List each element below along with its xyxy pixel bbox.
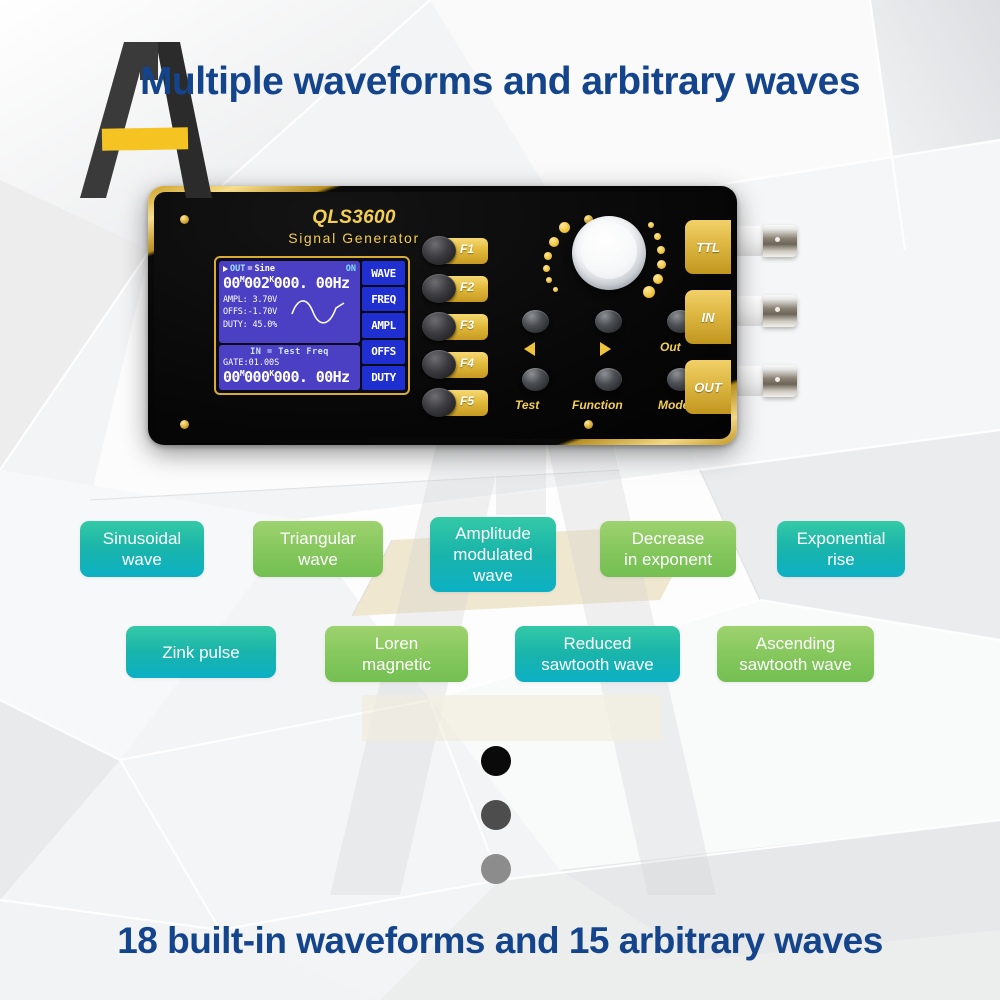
rotary-encoder-knob[interactable] bbox=[572, 216, 646, 290]
page-title-bottom: 18 built-in waveforms and 15 arbitrary w… bbox=[0, 920, 1000, 962]
lcd-out-status: ON bbox=[346, 264, 356, 274]
f1-label: F1 bbox=[460, 242, 474, 256]
lcd-input-panel: IN = Test Freq GATE:01.00S 00M000K000. 0… bbox=[219, 345, 360, 390]
softkey-ampl[interactable]: AMPL bbox=[362, 313, 405, 337]
cursor-arrow-icon bbox=[223, 266, 228, 272]
led-indicator-r2 bbox=[654, 233, 661, 240]
led-indicator-l4 bbox=[543, 265, 550, 272]
led-indicator-r6 bbox=[643, 286, 655, 298]
led-indicator-l5 bbox=[546, 277, 552, 283]
led-indicator-l6 bbox=[553, 287, 558, 292]
waveform-tag[interactable]: Decrease in exponent bbox=[600, 521, 736, 577]
lcd-out-freq-kilo: 002 bbox=[244, 274, 269, 292]
function-key-f5[interactable]: F5 bbox=[422, 388, 488, 418]
bnc-in-insulator bbox=[735, 296, 763, 326]
led-indicator-r4 bbox=[657, 260, 666, 269]
bnc-ttl-insulator bbox=[735, 226, 763, 256]
function-key-f3[interactable]: F3 bbox=[422, 312, 488, 342]
carousel-dots bbox=[481, 746, 511, 908]
lcd-out-freq-rest: 000. 00Hz bbox=[274, 274, 350, 292]
function-key-f4[interactable]: F4 bbox=[422, 350, 488, 380]
led-indicator-r1 bbox=[648, 222, 654, 228]
bnc-connector-ttl bbox=[735, 224, 797, 258]
lcd-screen: OUT = Sine ON 00M002K000. 00Hz AMPL: 3.7… bbox=[214, 256, 410, 395]
lcd-ampl: AMPL: 3.70V bbox=[223, 294, 277, 307]
rotary-encoder-area bbox=[532, 214, 672, 314]
lcd-softkey-column: WAVE FREQ AMPL OFFS DUTY bbox=[362, 261, 405, 390]
sine-wave-icon bbox=[290, 294, 346, 330]
waveform-tag[interactable]: Zink pulse bbox=[126, 626, 276, 678]
lcd-output-frequency: 00M002K000. 00Hz bbox=[223, 275, 356, 292]
lcd-out-freq-mega: 00 bbox=[223, 274, 240, 292]
lcd-out-waveform: Sine bbox=[254, 264, 274, 274]
led-indicator-l2 bbox=[549, 237, 559, 247]
f3-label: F3 bbox=[460, 318, 474, 332]
lcd-out-eq: = bbox=[247, 264, 252, 274]
f4-label: F4 bbox=[460, 356, 474, 370]
signal-generator-device: QLS3600 Signal Generator OUT = Sine ON 0… bbox=[148, 186, 737, 445]
bnc-connector-out bbox=[735, 364, 797, 398]
port-ttl[interactable]: TTL bbox=[685, 220, 731, 274]
softkey-freq[interactable]: FREQ bbox=[362, 287, 405, 311]
bnc-out-insulator bbox=[735, 366, 763, 396]
function-button[interactable] bbox=[595, 368, 622, 391]
device-model-name: QLS3600 bbox=[244, 207, 464, 229]
softkey-offs[interactable]: OFFS bbox=[362, 340, 405, 364]
lcd-output-row: OUT = Sine ON bbox=[223, 264, 356, 274]
waveform-tag[interactable]: Amplitude modulated wave bbox=[430, 517, 556, 592]
led-indicator-l3 bbox=[544, 252, 552, 260]
waveform-tag[interactable]: Exponential rise bbox=[777, 521, 905, 577]
right-arrow-icon bbox=[600, 342, 611, 356]
f5-label: F5 bbox=[460, 394, 474, 408]
lcd-offs: OFFS:-1.70V bbox=[223, 306, 277, 319]
lcd-gate: GATE:01.00S bbox=[223, 358, 356, 368]
led-indicator-l1 bbox=[559, 222, 570, 233]
device-faceplate: QLS3600 Signal Generator OUT = Sine ON 0… bbox=[154, 192, 731, 439]
function-label: Function bbox=[572, 398, 623, 412]
bnc-ttl-barrel bbox=[763, 225, 797, 257]
lcd-duty: DUTY: 45.0% bbox=[223, 319, 277, 332]
waveform-tag[interactable]: Reduced sawtooth wave bbox=[515, 626, 680, 682]
f1-button-cap[interactable] bbox=[422, 236, 456, 265]
screw-bottom-left bbox=[180, 420, 189, 429]
lcd-in-freq-rest: 000. 00Hz bbox=[274, 368, 350, 386]
waveform-tag[interactable]: Loren magnetic bbox=[325, 626, 468, 682]
bnc-in-barrel bbox=[763, 295, 797, 327]
carousel-dot[interactable] bbox=[481, 746, 511, 776]
screw-top-left bbox=[180, 215, 189, 224]
f4-button-cap[interactable] bbox=[422, 350, 456, 379]
test-button[interactable] bbox=[522, 368, 549, 391]
f2-button-cap[interactable] bbox=[422, 274, 456, 303]
lcd-out-label: OUT bbox=[230, 264, 245, 274]
port-in[interactable]: IN bbox=[685, 290, 731, 344]
f5-button-cap[interactable] bbox=[422, 388, 456, 417]
function-key-f2[interactable]: F2 bbox=[422, 274, 488, 304]
waveform-tag[interactable]: Triangular wave bbox=[253, 521, 383, 577]
test-label: Test bbox=[515, 398, 539, 412]
function-key-f1[interactable]: F1 bbox=[422, 236, 488, 266]
port-out[interactable]: OUT bbox=[685, 360, 731, 414]
page-title-top: Multiple waveforms and arbitrary waves bbox=[0, 60, 1000, 104]
bnc-connector-in bbox=[735, 294, 797, 328]
lcd-waveform-preview bbox=[277, 294, 356, 332]
carousel-dot[interactable] bbox=[481, 800, 511, 830]
lcd-output-panel: OUT = Sine ON 00M002K000. 00Hz AMPL: 3.7… bbox=[219, 261, 360, 343]
right-arrow-button[interactable] bbox=[595, 310, 622, 333]
softkey-wave[interactable]: WAVE bbox=[362, 261, 405, 285]
left-arrow-button[interactable] bbox=[522, 310, 549, 333]
lcd-in-freq-kilo: 000 bbox=[244, 368, 269, 386]
left-arrow-icon bbox=[524, 342, 535, 356]
led-indicator-r3 bbox=[657, 246, 665, 254]
waveform-tag[interactable]: Ascending sawtooth wave bbox=[717, 626, 874, 682]
carousel-dot[interactable] bbox=[481, 854, 511, 884]
control-button-grid: Out Test Function Mode bbox=[512, 310, 702, 422]
bnc-out-barrel bbox=[763, 365, 797, 397]
lcd-in-title: IN = Test Freq bbox=[223, 347, 356, 357]
led-indicator-r5 bbox=[653, 274, 663, 284]
lcd-input-frequency: 00M000K000. 00Hz bbox=[223, 369, 356, 386]
waveform-tag[interactable]: Sinusoidal wave bbox=[80, 521, 204, 577]
lcd-in-freq-mega: 00 bbox=[223, 368, 240, 386]
softkey-duty[interactable]: DUTY bbox=[362, 366, 405, 390]
function-key-column: F1 F2 F3 F4 F5 bbox=[422, 236, 488, 426]
out-label: Out bbox=[660, 340, 681, 354]
f2-label: F2 bbox=[460, 280, 474, 294]
f3-button-cap[interactable] bbox=[422, 312, 456, 341]
